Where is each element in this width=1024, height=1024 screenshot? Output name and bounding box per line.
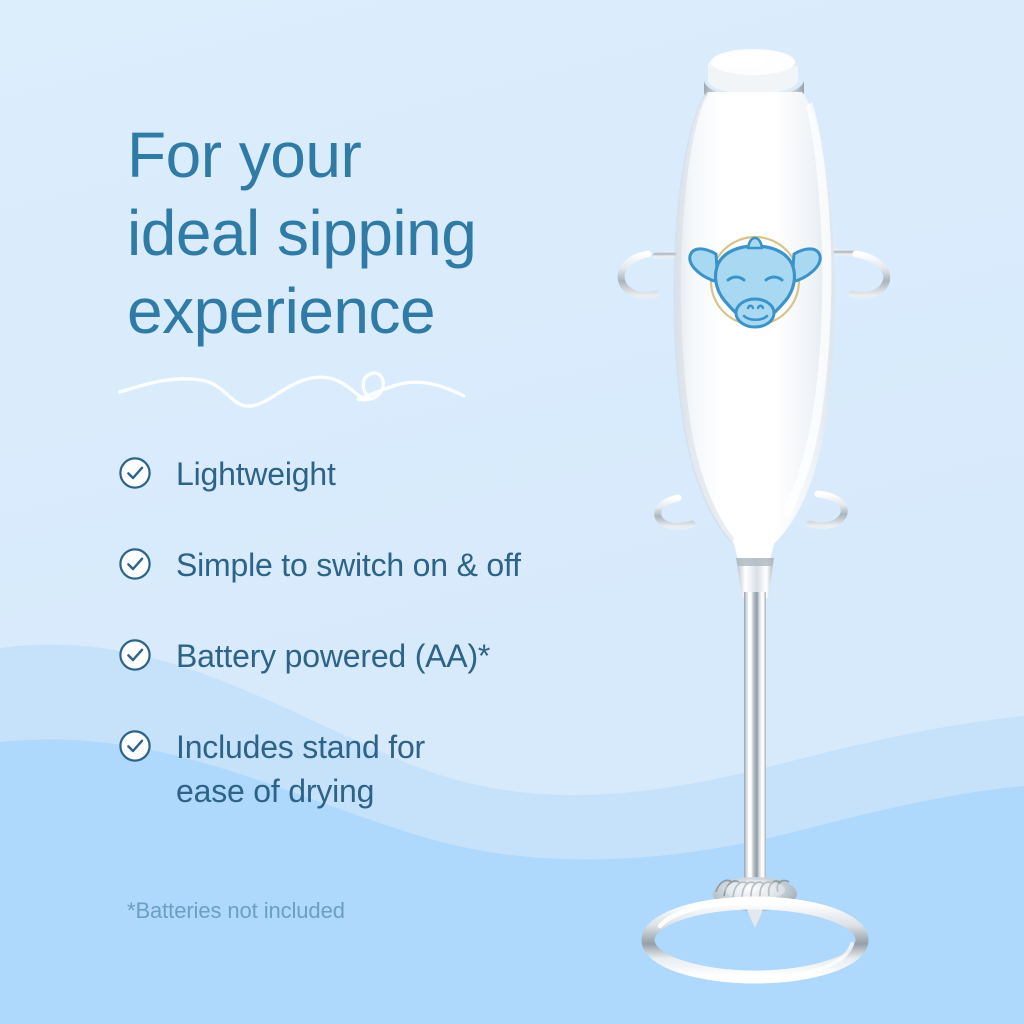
handheld-milk-frother-with-stand (556, 32, 956, 992)
check-circle-icon (118, 547, 152, 581)
check-circle-icon (118, 638, 152, 672)
wavy-underline-flourish (112, 352, 492, 424)
chrome-shaft (744, 592, 766, 892)
check-circle-icon (118, 729, 152, 763)
list-item-label: Battery powered (AA)* (176, 634, 490, 678)
check-circle-icon (118, 456, 152, 490)
page-headline: For your ideal sipping experience (127, 116, 476, 350)
power-button-cap (708, 49, 798, 94)
list-item-label: Simple to switch on & off (176, 543, 521, 587)
list-item-label: Lightweight (176, 452, 336, 496)
list-item-label: Includes stand for ease of drying (176, 725, 425, 813)
product-feature-graphic: For your ideal sipping experience Lightw… (0, 0, 1024, 1024)
footnote-disclaimer: *Batteries not included (127, 898, 345, 924)
